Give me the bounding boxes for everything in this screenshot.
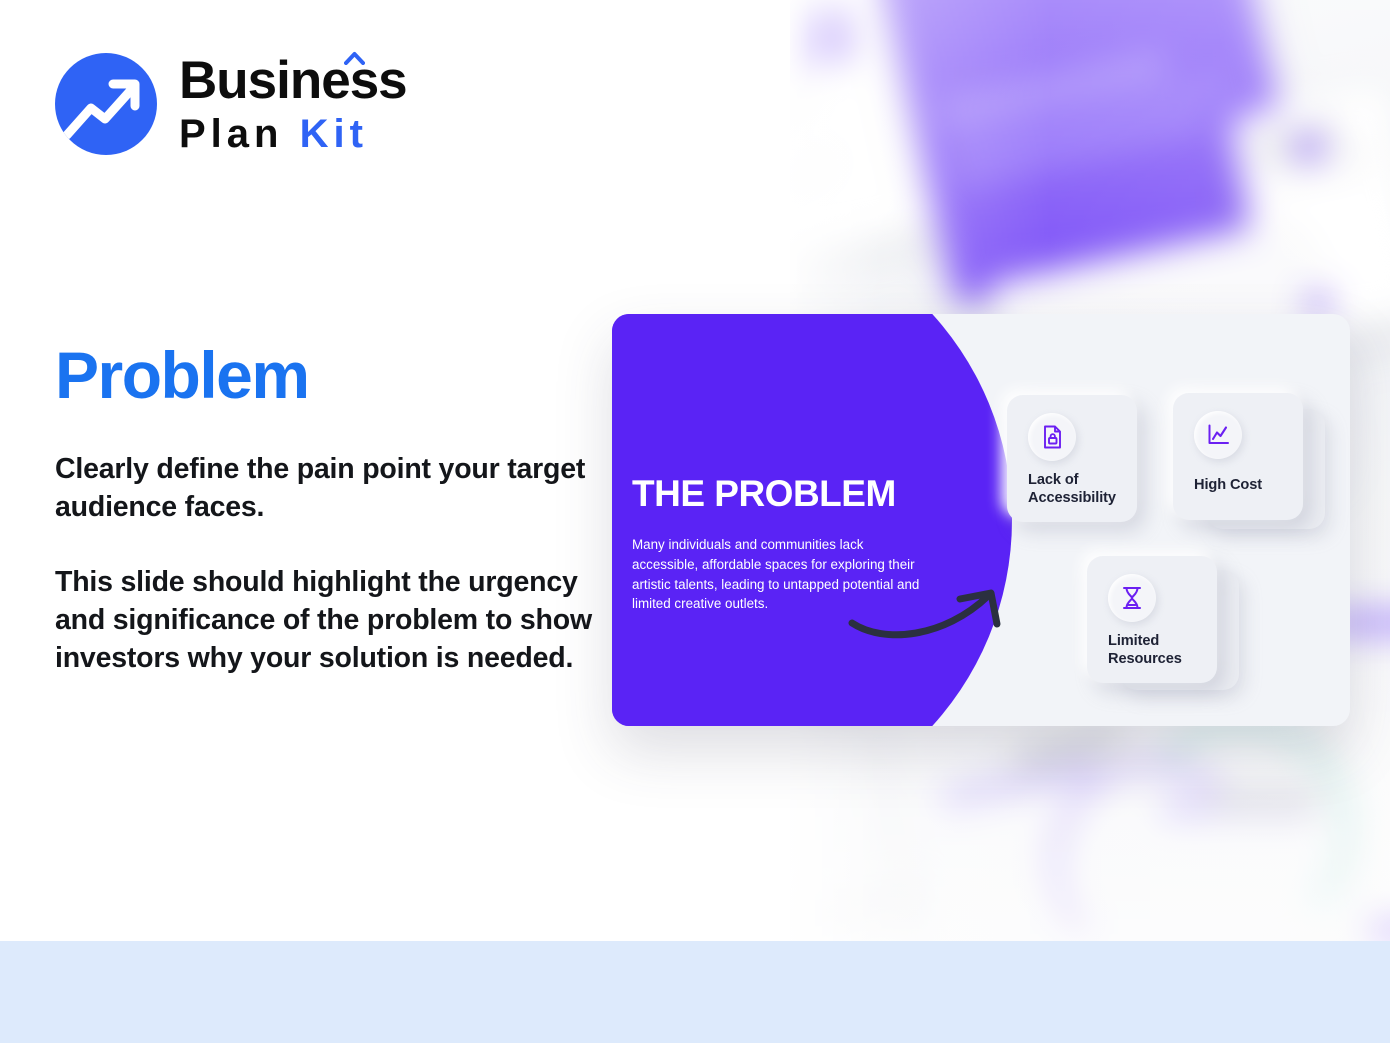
bg-dot [1308,292,1330,314]
brand-wordmark: Business Plan Kit [179,54,407,154]
bg-dot [1370,920,1390,941]
brand-line-2: Plan Kit [179,114,407,154]
hourglass-icon [1108,574,1156,622]
brand-line-2-accent: Kit [300,112,368,156]
bottom-accent-band [0,941,1390,1043]
circumflex-accent-icon [344,51,365,65]
problem-tile-label: Lack of Accessibility [1028,471,1137,508]
brand-logo[interactable]: Business Plan Kit [55,53,407,155]
document-lock-icon [1028,413,1076,461]
page-title: Problem [55,341,309,410]
brand-line-1-text: Business [179,51,407,110]
bg-dot [1294,132,1324,162]
problem-tile-label: Limited Resources [1108,632,1217,669]
brand-line-2-plain: Plan [179,112,283,156]
growth-arrow-icon [55,53,157,155]
curved-arrow-up-right-icon [848,582,1013,642]
problem-tile-high-cost[interactable]: High Cost [1173,393,1303,520]
bg-donut-chart [1130,720,1352,941]
intro-paragraph-2: This slide should highlight the urgency … [55,563,595,678]
intro-paragraph-1: Clearly define the pain point your targe… [55,450,595,526]
slide-preview-card[interactable]: THE PROBLEM Many individuals and communi… [612,314,1350,726]
line-chart-icon [1194,411,1242,459]
slide-accent-circle [612,314,1012,726]
problem-tile-label: High Cost [1194,476,1262,494]
problem-tile-lack-of-accessibility[interactable]: Lack of Accessibility [1007,395,1137,522]
brand-line-1: Business [179,54,407,107]
page-root: Business Plan Kit Problem Clearly define… [0,0,1390,1043]
slide-title: THE PROBLEM [632,475,896,512]
problem-tile-limited-resources[interactable]: Limited Resources [1087,556,1217,683]
